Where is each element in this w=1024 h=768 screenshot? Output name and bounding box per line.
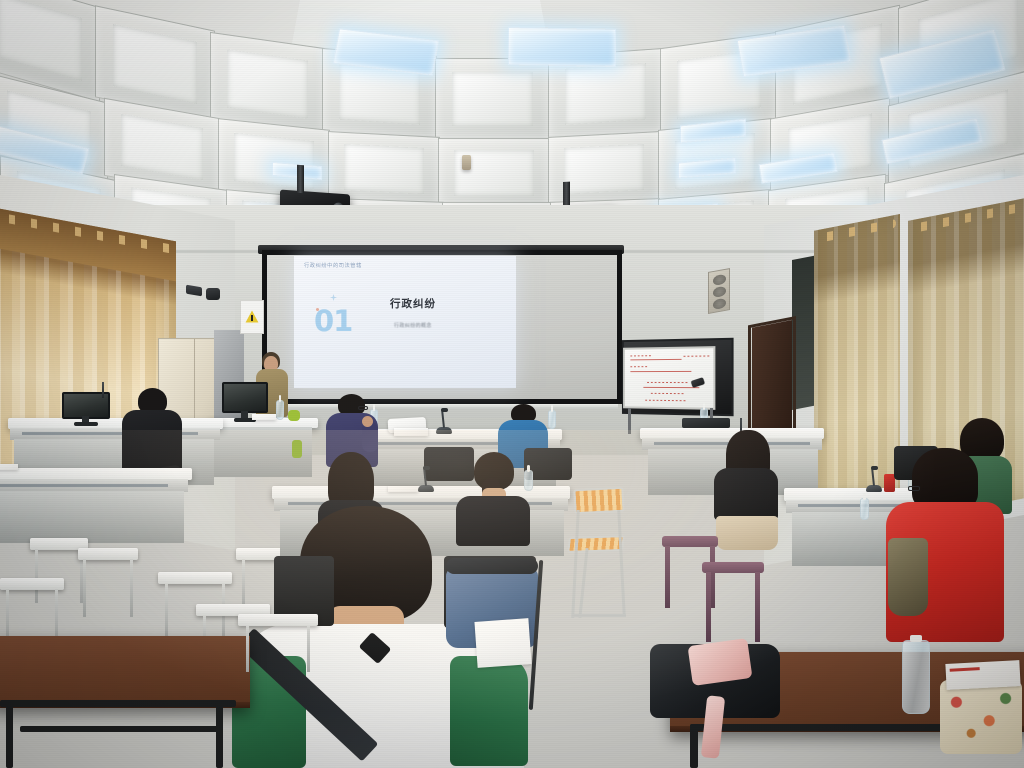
green-item	[288, 410, 300, 421]
student-purple-hand	[362, 416, 373, 427]
paper-stack	[252, 414, 276, 420]
slide-header-text: 行政纠纷中的司法管辖	[304, 262, 362, 269]
whiteboard[interactable]	[623, 346, 715, 410]
whiteboard-note	[684, 355, 710, 356]
slide-title-text: 行政纠纷	[390, 296, 436, 311]
glasses-icon	[358, 406, 368, 410]
slide-section-number: 01	[314, 304, 352, 338]
floor-reflection	[0, 430, 1024, 768]
water-bottle	[276, 400, 284, 420]
slide-subtitle-text: 行政纠纷的概念	[394, 322, 432, 329]
whiteboard-line	[630, 359, 681, 361]
whiteboard-note	[630, 366, 647, 367]
door	[752, 320, 792, 446]
wall-camera-secondary	[206, 288, 220, 300]
keyboard-tray	[682, 418, 730, 428]
water-bottle	[548, 410, 556, 429]
classroom-photo: 行政纠纷中的司法管辖 01 行政纠纷 行政纠纷的概念	[0, 0, 1024, 768]
ceiling-sensor	[462, 155, 471, 170]
monitor-foot	[74, 422, 97, 426]
wall-speaker	[708, 268, 730, 314]
whiteboard-note	[645, 400, 685, 402]
gooseneck-mic-stand	[102, 382, 104, 398]
whiteboard-line	[643, 387, 699, 388]
slide-sparkle-icon	[330, 294, 337, 301]
ceiling-light	[508, 27, 616, 67]
ceiling-tile	[435, 58, 550, 140]
whiteboard-line	[630, 371, 691, 372]
whiteboard-note	[651, 393, 684, 394]
monitor-screen	[222, 382, 268, 413]
whiteboard-note	[630, 355, 650, 356]
projected-slide: 行政纠纷中的司法管辖 01 行政纠纷 行政纠纷的概念	[294, 256, 516, 388]
ceiling-tile	[438, 138, 550, 208]
whiteboard-note	[647, 382, 689, 383]
